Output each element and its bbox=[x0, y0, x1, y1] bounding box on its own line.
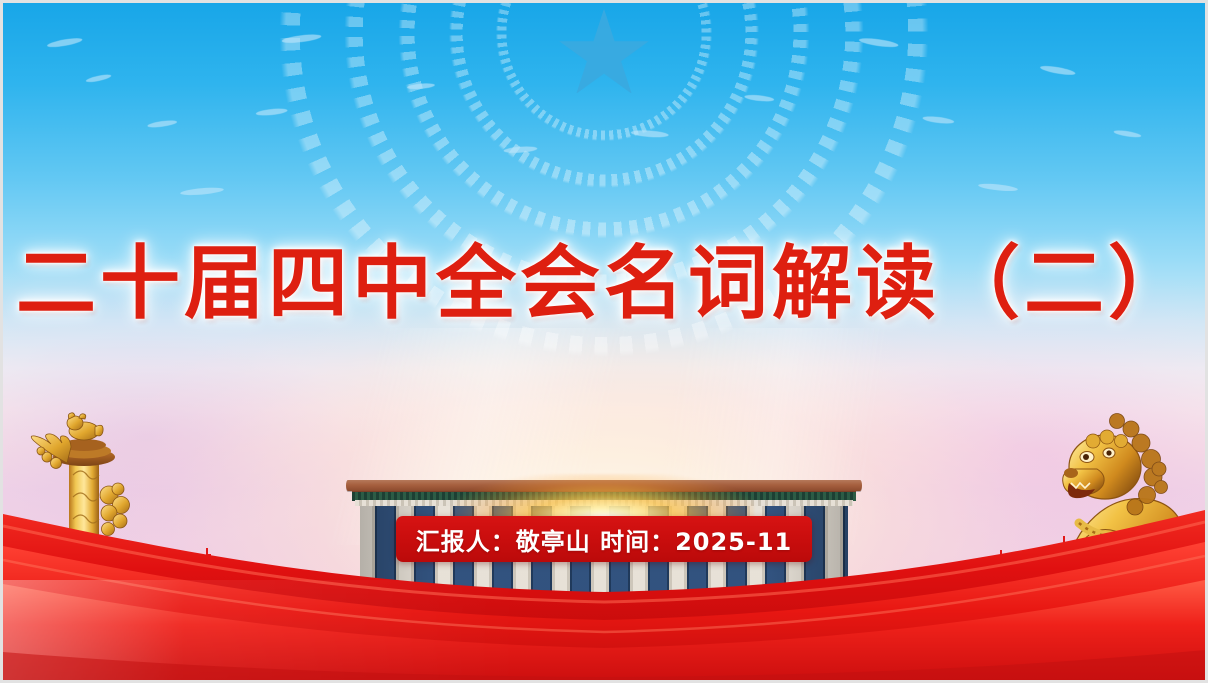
presentation-slide: 二十届四中全会名词解读（二） 汇报人：敬亭山 时间：2025-11 bbox=[0, 0, 1208, 683]
page-title: 二十届四中全会名词解读（二） bbox=[16, 243, 1192, 323]
red-silk-ribbon bbox=[3, 480, 1205, 680]
presenter-info-banner: 汇报人：敬亭山 时间：2025-11 bbox=[396, 516, 812, 562]
five-pointed-star-icon bbox=[559, 7, 649, 93]
title-container: 二十届四中全会名词解读（二） bbox=[3, 189, 1205, 376]
presenter-info-text: 汇报人：敬亭山 时间：2025-11 bbox=[416, 522, 793, 557]
